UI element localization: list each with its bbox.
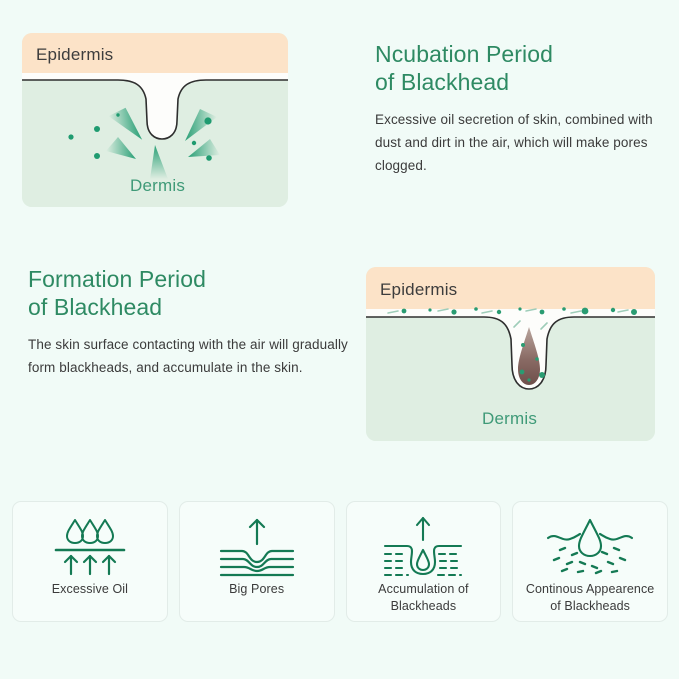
blackhead-formation-diagram: Epidermis Dermis xyxy=(366,267,655,441)
dermis-label: Dermis xyxy=(130,176,185,196)
incubation-text-block: Ncubation Period of Blackhead Excessive … xyxy=(375,40,665,177)
pore-accumulation-icon xyxy=(377,513,469,581)
card-label: Excessive Oil xyxy=(46,581,134,598)
formation-text-block: Formation Period of Blackhead The skin s… xyxy=(28,265,348,379)
card-accumulation-of-blackheads[interactable]: Accumulation of Blackheads xyxy=(346,501,502,622)
formation-title-line2: of Blackhead xyxy=(28,294,162,320)
formation-title: Formation Period of Blackhead xyxy=(28,265,348,321)
incubation-title-line2: of Blackhead xyxy=(375,69,509,95)
card-label: Accumulation of Blackheads xyxy=(347,581,501,615)
card-label: Continous Appearence of Blackheads xyxy=(513,581,667,615)
dermis-label: Dermis xyxy=(482,409,537,429)
epidermis-label: Epidermis xyxy=(380,280,457,300)
pore-cavity-fill xyxy=(22,73,288,139)
card-big-pores[interactable]: Big Pores xyxy=(179,501,335,622)
epidermis-label: Epidermis xyxy=(36,45,113,65)
blackhead-incubation-diagram: Epidermis Dermis xyxy=(22,33,288,207)
incubation-title: Ncubation Period of Blackhead xyxy=(375,40,665,96)
enlarged-pore-lines-icon xyxy=(211,513,303,581)
card-continous-appearence-of-blackheads[interactable]: Continous Appearence of Blackheads xyxy=(512,501,668,622)
oil-droplets-rising-icon xyxy=(44,513,136,581)
symptom-card-row: Excessive Oil Big Pores xyxy=(12,501,668,622)
scattered-blackheads-icon xyxy=(540,513,640,581)
formation-body: The skin surface contacting with the air… xyxy=(28,333,348,379)
infographic-page: Epidermis Dermis Ncubation Period of Bla… xyxy=(0,0,679,679)
pore-cavity-fill xyxy=(366,309,655,389)
incubation-title-line1: Ncubation Period xyxy=(375,41,553,67)
card-excessive-oil[interactable]: Excessive Oil xyxy=(12,501,168,622)
formation-title-line1: Formation Period xyxy=(28,266,206,292)
card-label: Big Pores xyxy=(223,581,290,598)
incubation-body: Excessive oil secretion of skin, combine… xyxy=(375,108,665,177)
